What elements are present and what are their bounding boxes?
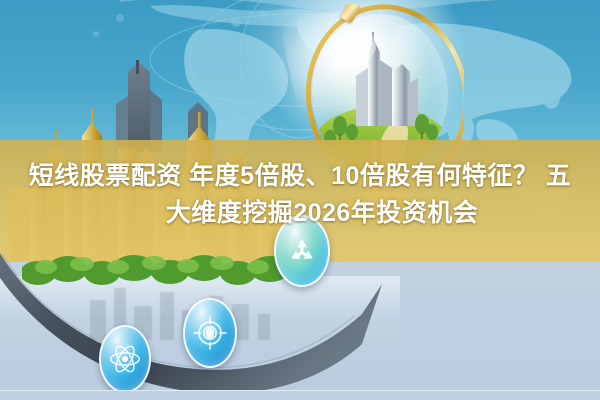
orb-target[interactable] bbox=[183, 298, 237, 368]
banner-image: 短线股票配资 年度5倍股、10倍股有何特征？ 五 大维度挖掘2026年投资机会 bbox=[0, 0, 600, 400]
atom-icon bbox=[108, 342, 142, 376]
headline-line-2: 大维度挖掘2026年投资机会 bbox=[8, 195, 592, 232]
headline-line-1: 短线股票配资 年度5倍股、10倍股有何特征？ 五 bbox=[8, 158, 592, 195]
target-icon bbox=[192, 315, 228, 351]
headline: 短线股票配资 年度5倍股、10倍股有何特征？ 五 大维度挖掘2026年投资机会 bbox=[0, 158, 600, 232]
orb-atom[interactable] bbox=[99, 325, 151, 393]
bottom-strip bbox=[0, 390, 600, 400]
recycle-icon bbox=[287, 236, 317, 266]
